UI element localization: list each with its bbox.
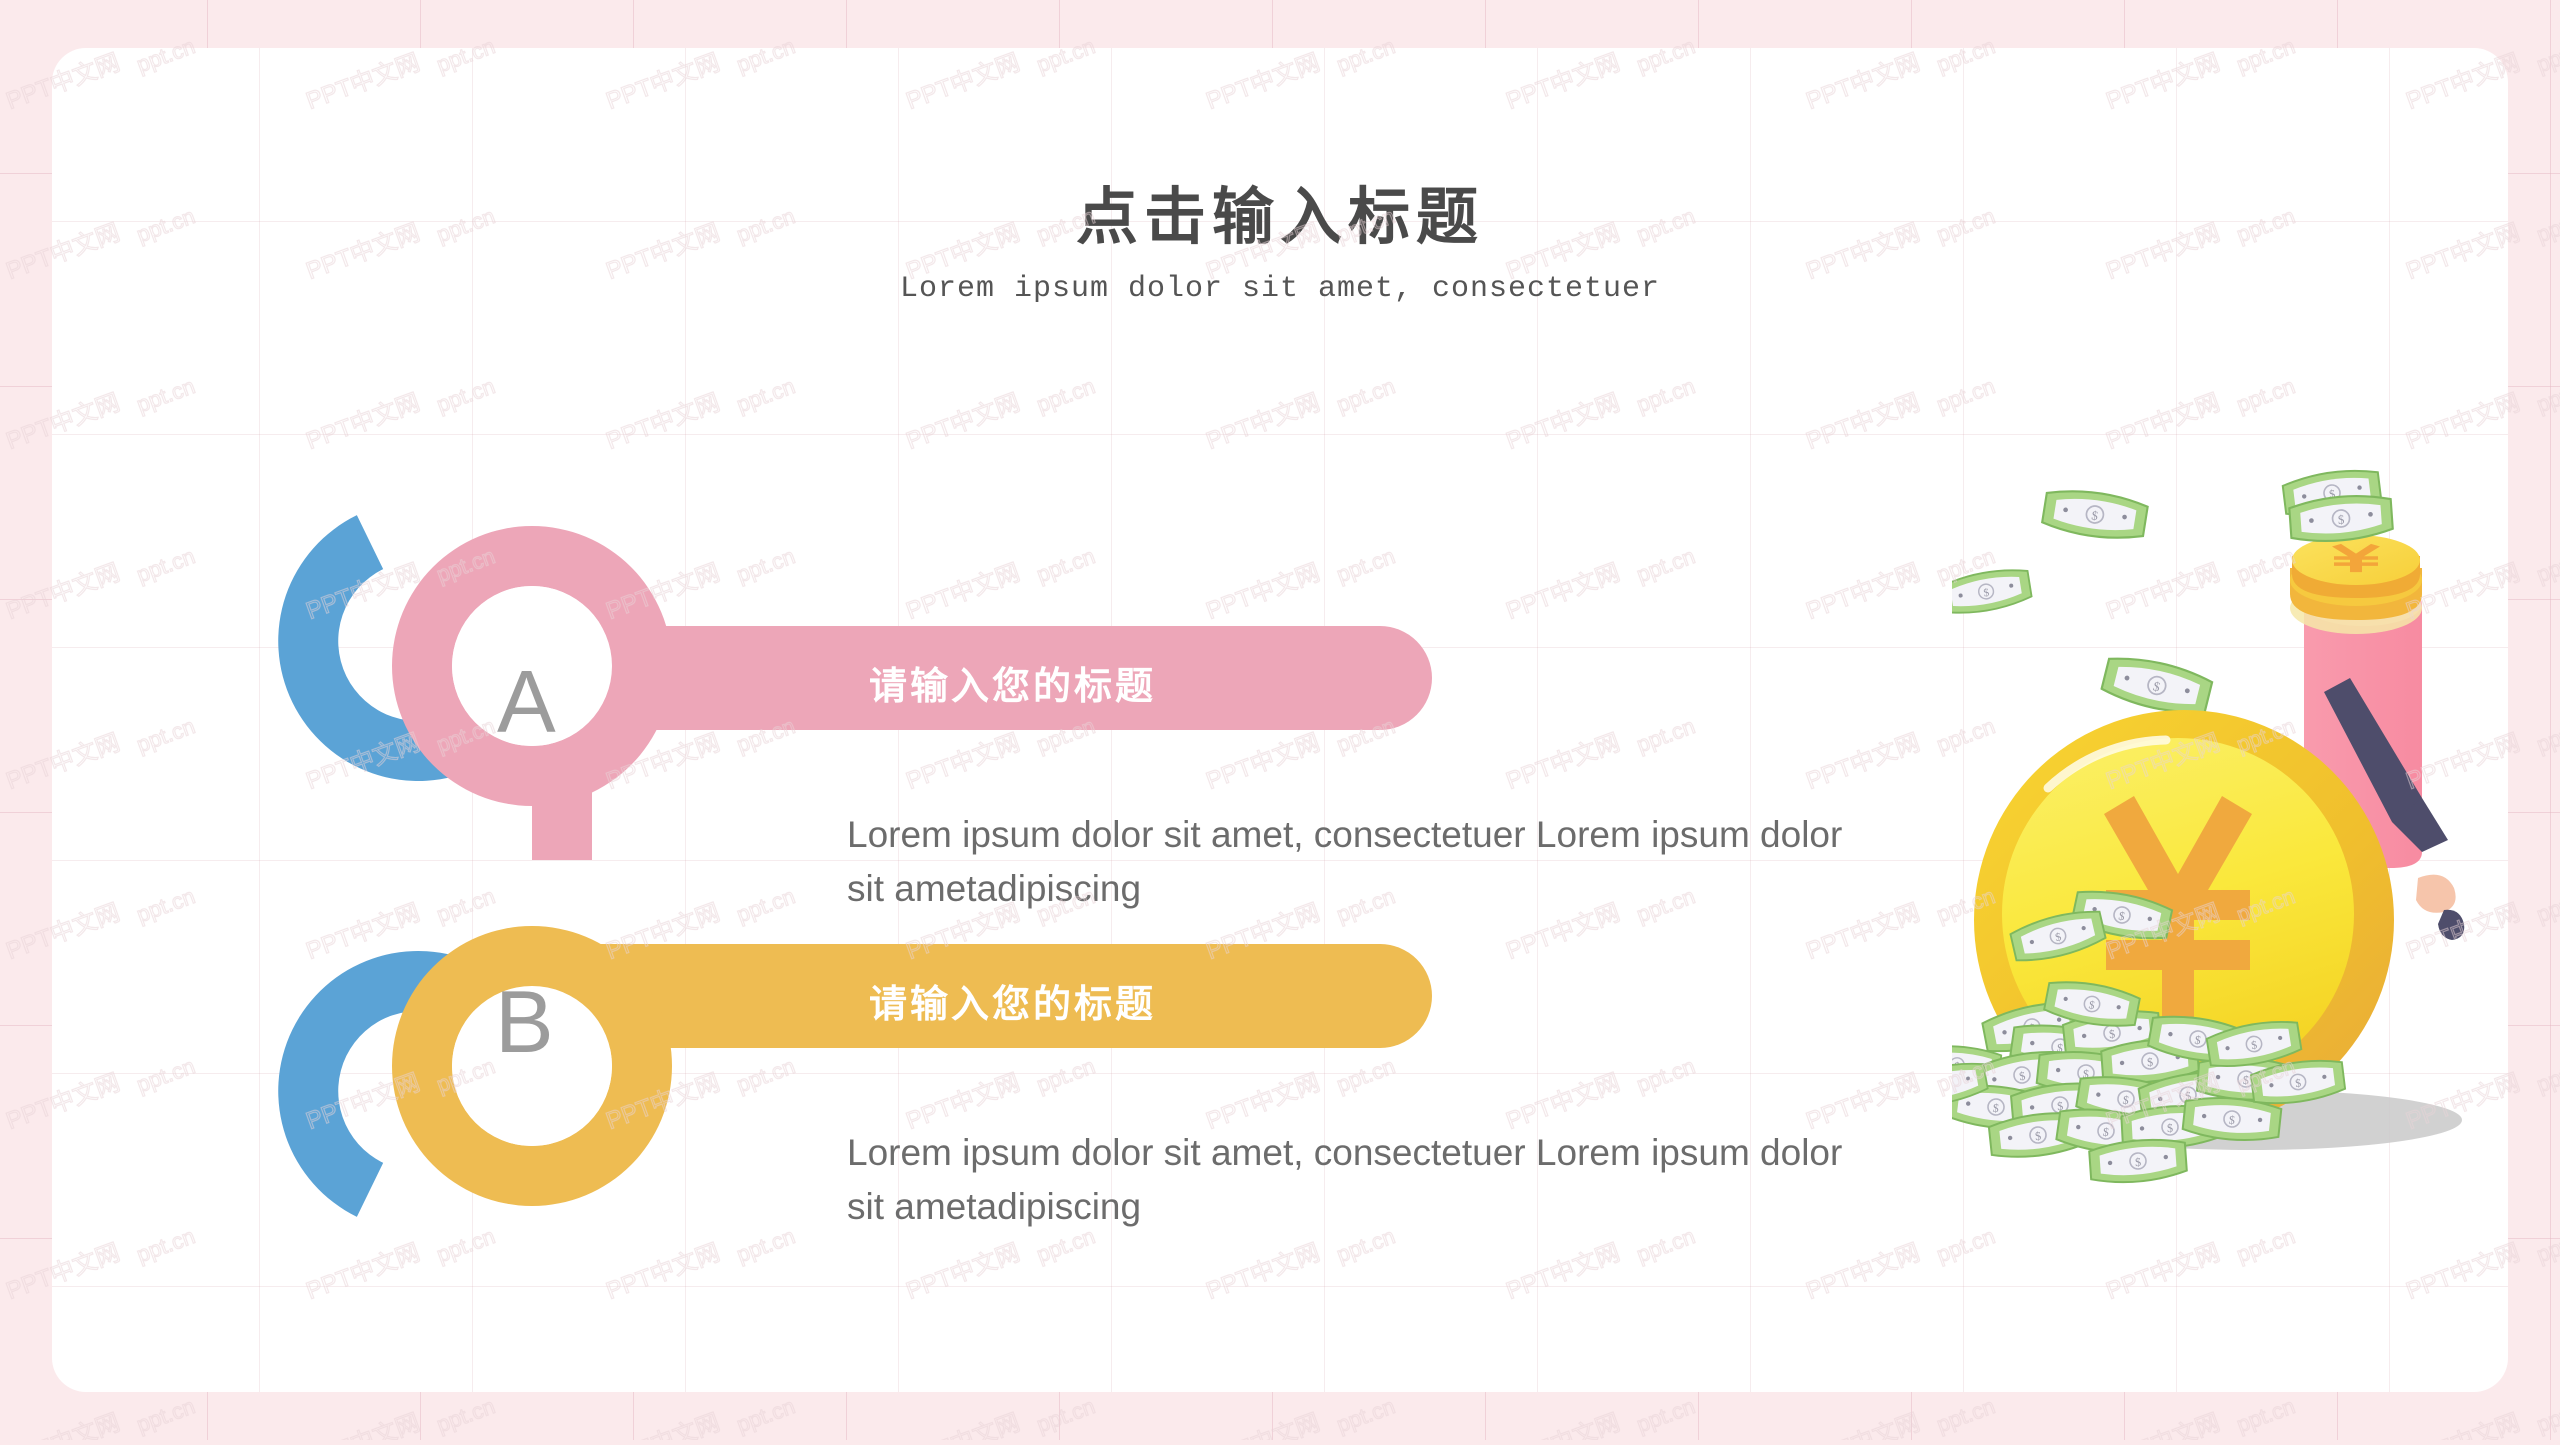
body-text-b: Lorem ipsum dolor sit amet, consectetuer… <box>847 1126 1877 1233</box>
page-title: 点击输入标题 <box>52 166 2508 256</box>
pink-link-a <box>532 784 592 860</box>
step-letter-b: B <box>495 978 554 1066</box>
bar-label-b: 请输入您的标题 <box>869 973 1156 1028</box>
bar-label-a: 请输入您的标题 <box>869 655 1156 710</box>
body-text-a: Lorem ipsum dolor sit amet, consectetuer… <box>847 808 1877 915</box>
step-letter-a: A <box>497 658 556 746</box>
floating-bill <box>2100 651 2213 720</box>
coin-stack <box>2290 535 2422 634</box>
floating-bill <box>2041 485 2148 544</box>
page-subtitle: Lorem ipsum dolor sit amet, consectetuer <box>52 272 2508 306</box>
coin-money-illustration: $ <box>1952 448 2508 1228</box>
hand <box>2416 875 2464 940</box>
slide-card: 点击输入标题 Lorem ipsum dolor sit amet, conse… <box>52 48 2508 1392</box>
floating-bill <box>1952 566 2033 617</box>
